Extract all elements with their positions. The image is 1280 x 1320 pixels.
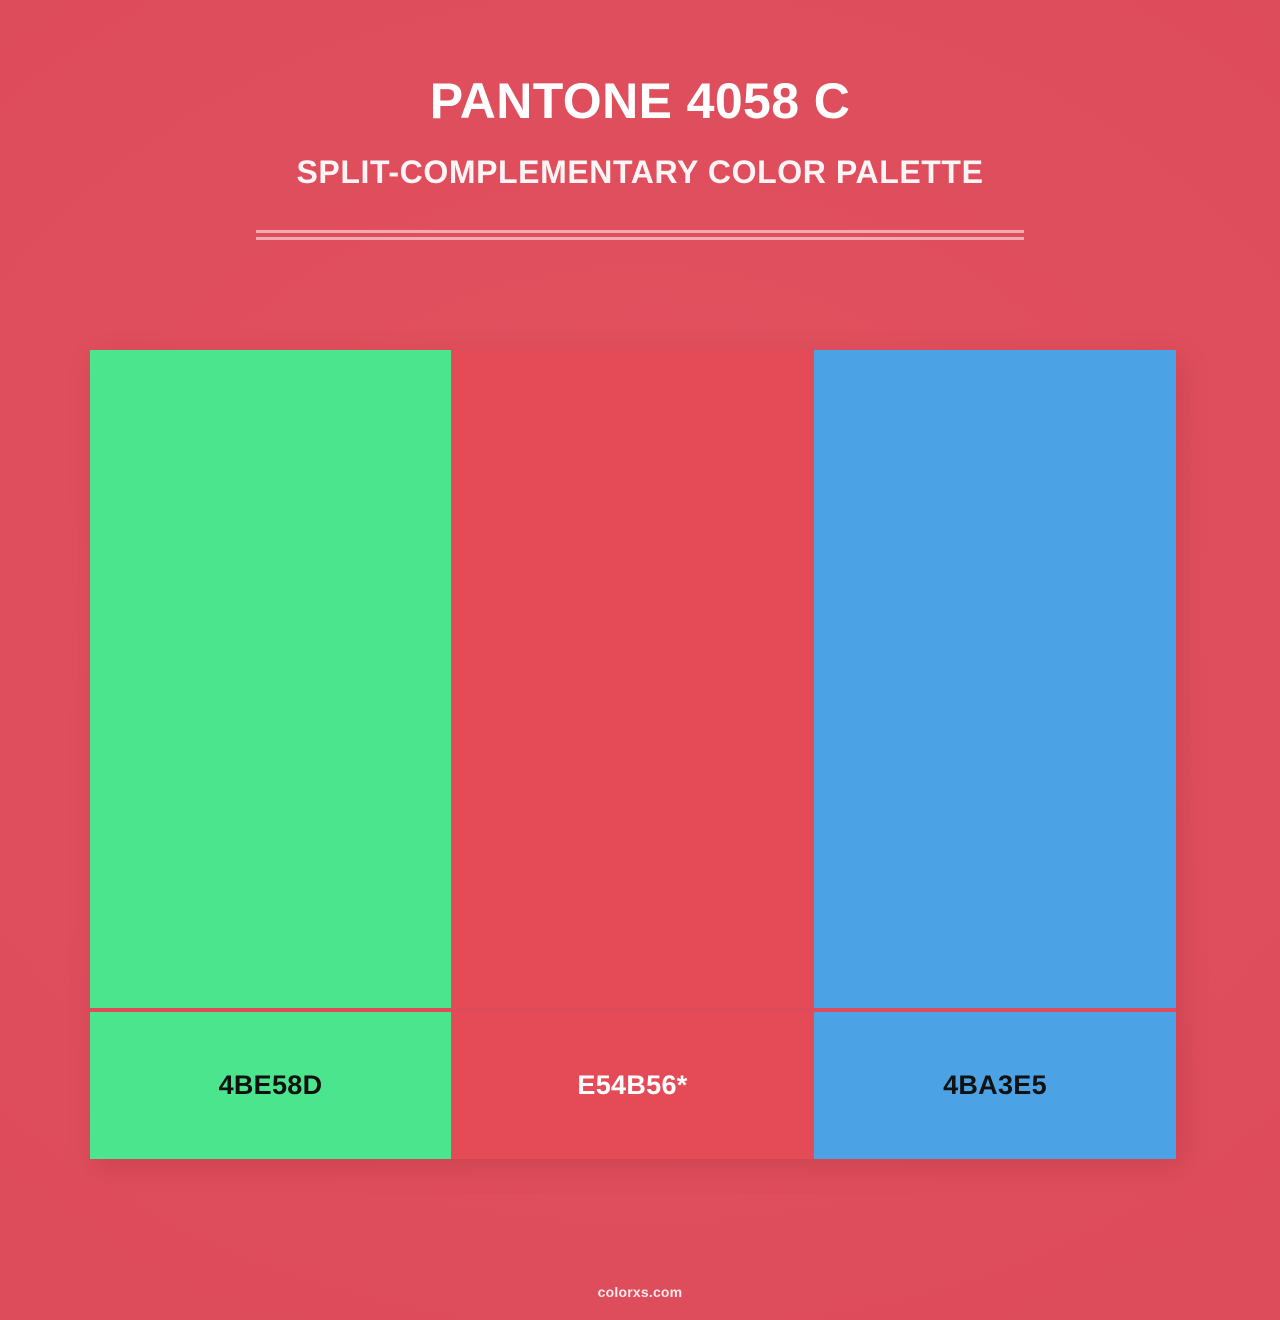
swatch-label-area: 4BA3E5 [814,1012,1176,1159]
color-swatch[interactable] [90,350,451,1008]
swatch-label-area: E54B56* [451,1012,814,1159]
color-swatch[interactable] [451,350,814,1008]
page-header: PANTONE 4058 C SPLIT-COMPLEMENTARY COLOR… [0,0,1280,191]
swatch-column[interactable]: 4BE58D [90,350,451,1159]
swatch-hex-label: 4BE58D [219,1072,323,1099]
swatch-label-area: 4BE58D [90,1012,451,1159]
page-subtitle: SPLIT-COMPLEMENTARY COLOR PALETTE [0,153,1280,191]
swatch-hex-label: E54B56* [577,1072,687,1099]
site-footer: colorxs.com [0,1284,1280,1300]
color-swatch[interactable] [814,350,1176,1008]
divider-line-top [256,230,1024,233]
swatch-column[interactable]: 4BA3E5 [814,350,1176,1159]
divider-line-bottom [256,237,1024,240]
title-divider [256,230,1024,240]
swatch-column[interactable]: E54B56* [451,350,814,1159]
swatch-hex-label: 4BA3E5 [943,1072,1047,1099]
page-title: PANTONE 4058 C [0,72,1280,131]
color-palette-page: PANTONE 4058 C SPLIT-COMPLEMENTARY COLOR… [0,0,1280,1320]
palette-panel: 4BE58D E54B56* 4BA3E5 [90,350,1176,1159]
